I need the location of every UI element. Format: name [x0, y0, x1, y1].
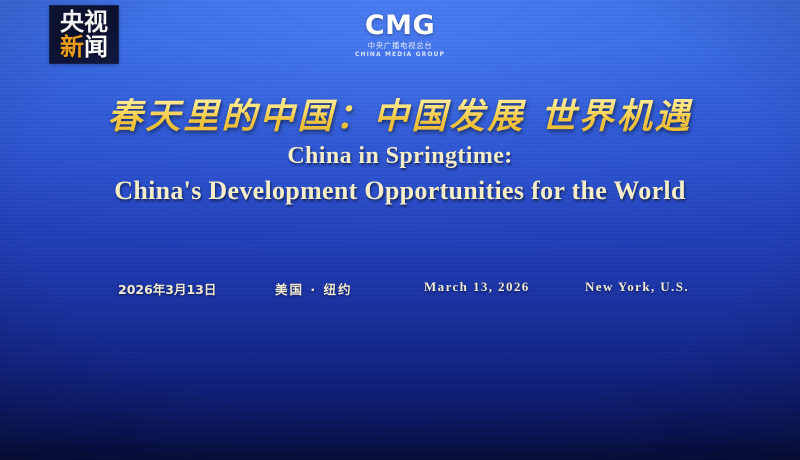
event-date-chinese: 2026年3月13日 — [118, 279, 216, 298]
event-location-english: New York, U.S. — [585, 279, 689, 295]
vignette-overlay — [0, 0, 800, 460]
broadcast-title-card: 央 视 新 闻 CMG 中央广播电视总台 CHINA MEDIA GROUP 春… — [0, 0, 800, 460]
scanline-texture — [0, 0, 800, 460]
event-location-chinese: 美国 · 纽约 — [275, 279, 352, 298]
event-date-english: March 13, 2026 — [424, 279, 530, 295]
title-english-line-2: China's Development Opportunities for th… — [0, 176, 800, 206]
title-chinese: 春天里的中国：中国发展 世界机遇 — [0, 88, 800, 139]
cmg-english-name: CHINA MEDIA GROUP — [0, 52, 800, 58]
cmg-logo: CMG 中央广播电视总台 CHINA MEDIA GROUP — [0, 12, 800, 58]
title-english-line-1: China in Springtime: — [0, 143, 800, 170]
event-meta-row: 2026年3月13日 美国 · 纽约 March 13, 2026 New Yo… — [118, 279, 710, 297]
cmg-chinese-name: 中央广播电视总台 — [0, 42, 800, 50]
cmg-wordmark: CMG — [0, 12, 800, 39]
